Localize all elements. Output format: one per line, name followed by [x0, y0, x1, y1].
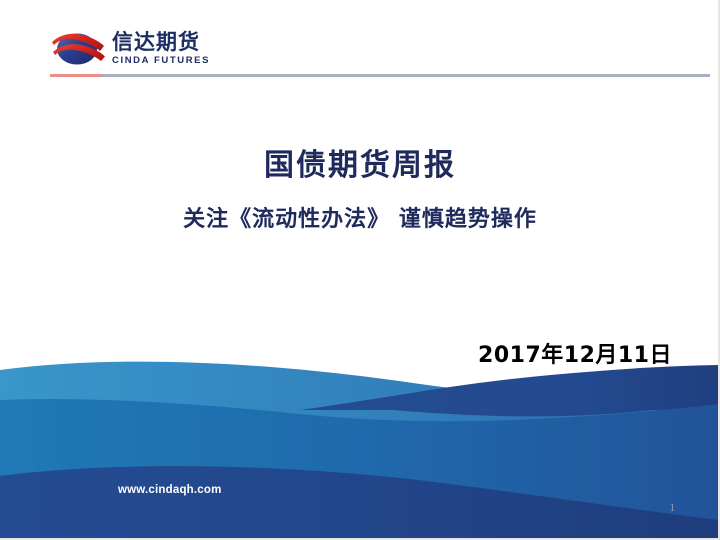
- presentation-slide: 信达期货 CINDA FUTURES 国债期货周报 关注《流动性办法》 谨慎趋势…: [0, 0, 720, 540]
- company-logo: 信达期货 CINDA FUTURES: [50, 26, 210, 72]
- title-block: 国债期货周报 关注《流动性办法》 谨慎趋势操作: [0, 148, 720, 235]
- logo-company-name-cn: 信达期货: [112, 32, 210, 53]
- footer-website-url: www.cindaqh.com: [118, 484, 222, 496]
- divider-line-segment: [102, 74, 710, 77]
- report-date: 2017年12月11日: [478, 337, 672, 369]
- wave-decoration: [0, 348, 720, 538]
- page-number: 1: [670, 502, 676, 514]
- cinda-emblem-icon: [50, 28, 106, 70]
- header-divider: [50, 74, 710, 77]
- slide-title: 国债期货周报: [0, 148, 720, 184]
- slide-subtitle: 关注《流动性办法》 谨慎趋势操作: [0, 206, 720, 235]
- logo-company-name-en: CINDA FUTURES: [112, 56, 210, 66]
- divider-accent-segment: [50, 74, 102, 77]
- logo-text-block: 信达期货 CINDA FUTURES: [112, 32, 210, 66]
